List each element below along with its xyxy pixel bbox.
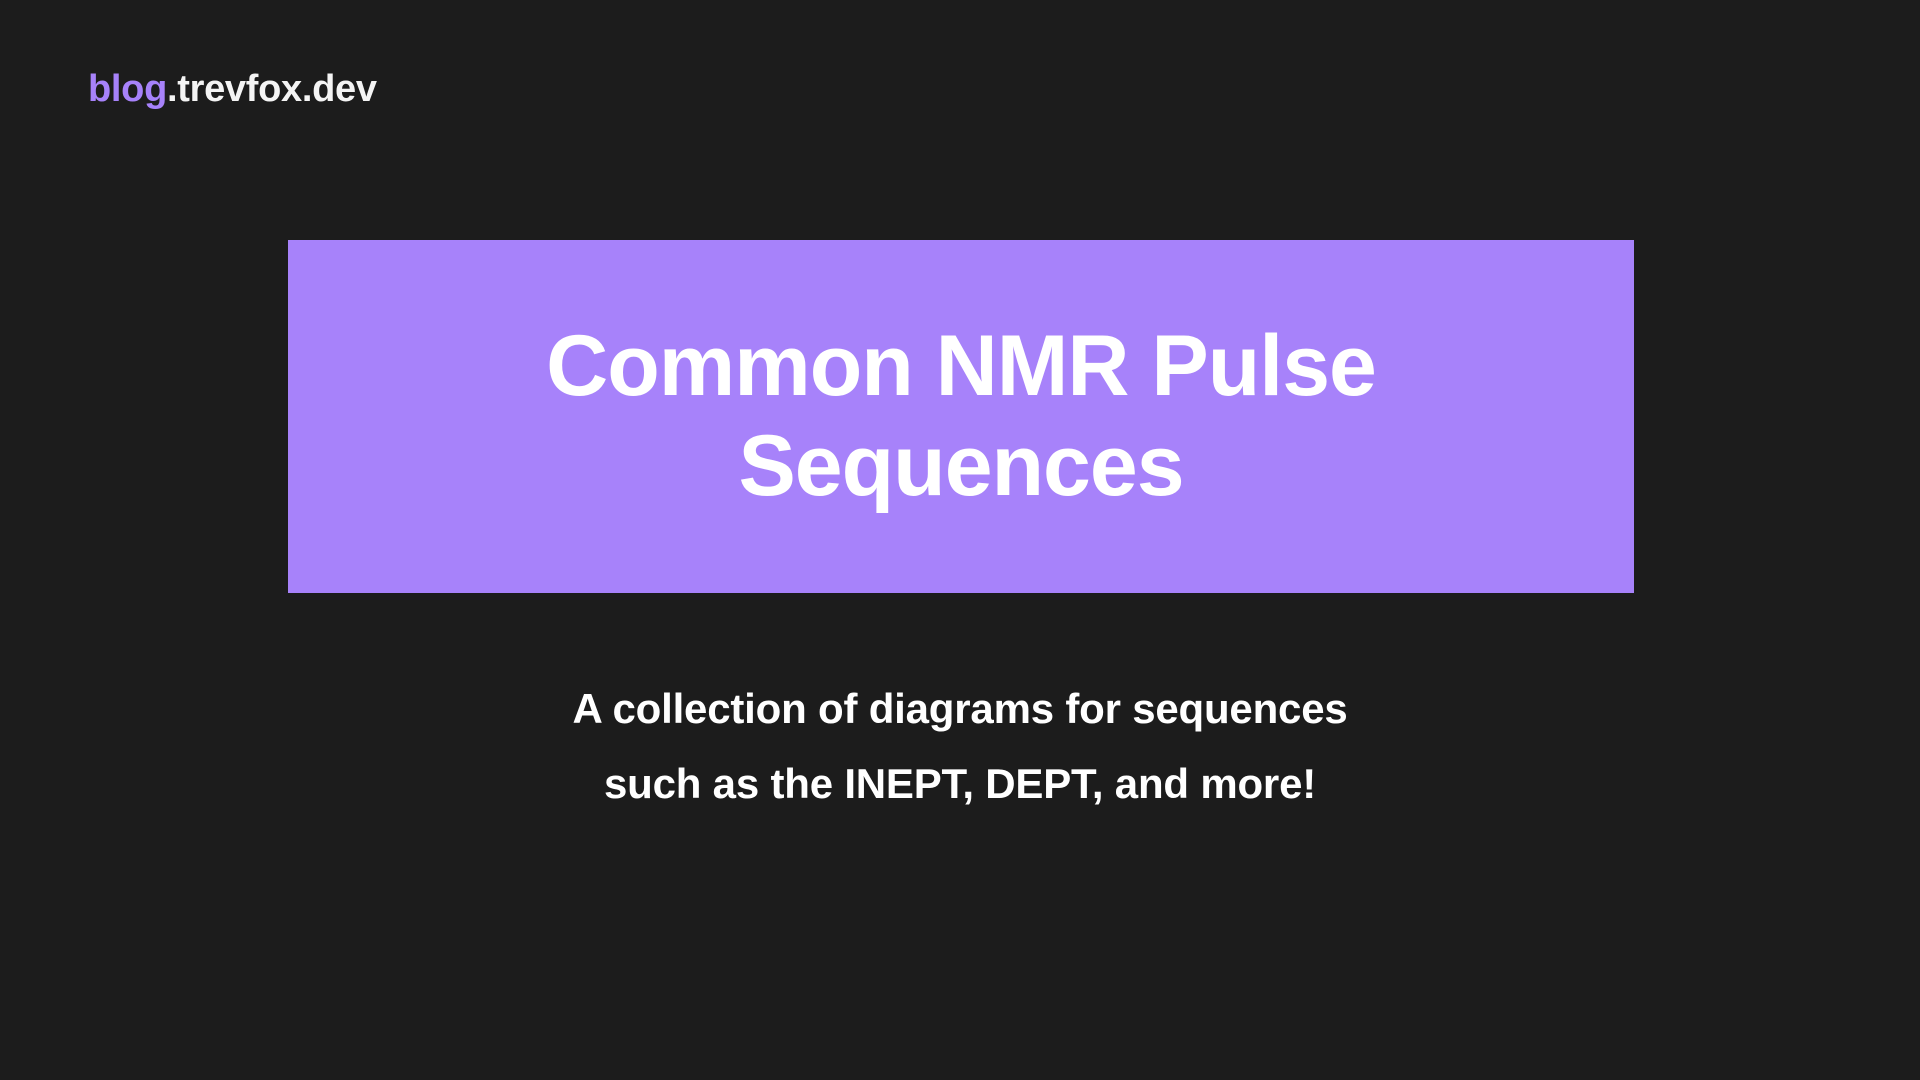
site-logo[interactable]: blog.trevfox.dev (88, 68, 377, 112)
hero-banner: Common NMR Pulse Sequences (288, 240, 1634, 593)
hero-subtitle-line-1: A collection of diagrams for sequences (310, 672, 1610, 747)
page-root: blog.trevfox.dev Common NMR Pulse Sequen… (0, 0, 1920, 1080)
site-logo-accent: blog (88, 68, 167, 110)
hero-subtitle-line-2: such as the INEPT, DEPT, and more! (310, 747, 1610, 822)
hero-subtitle: A collection of diagrams for sequences s… (310, 672, 1610, 822)
site-logo-domain: .trevfox.dev (167, 68, 377, 110)
page-title: Common NMR Pulse Sequences (461, 317, 1461, 517)
